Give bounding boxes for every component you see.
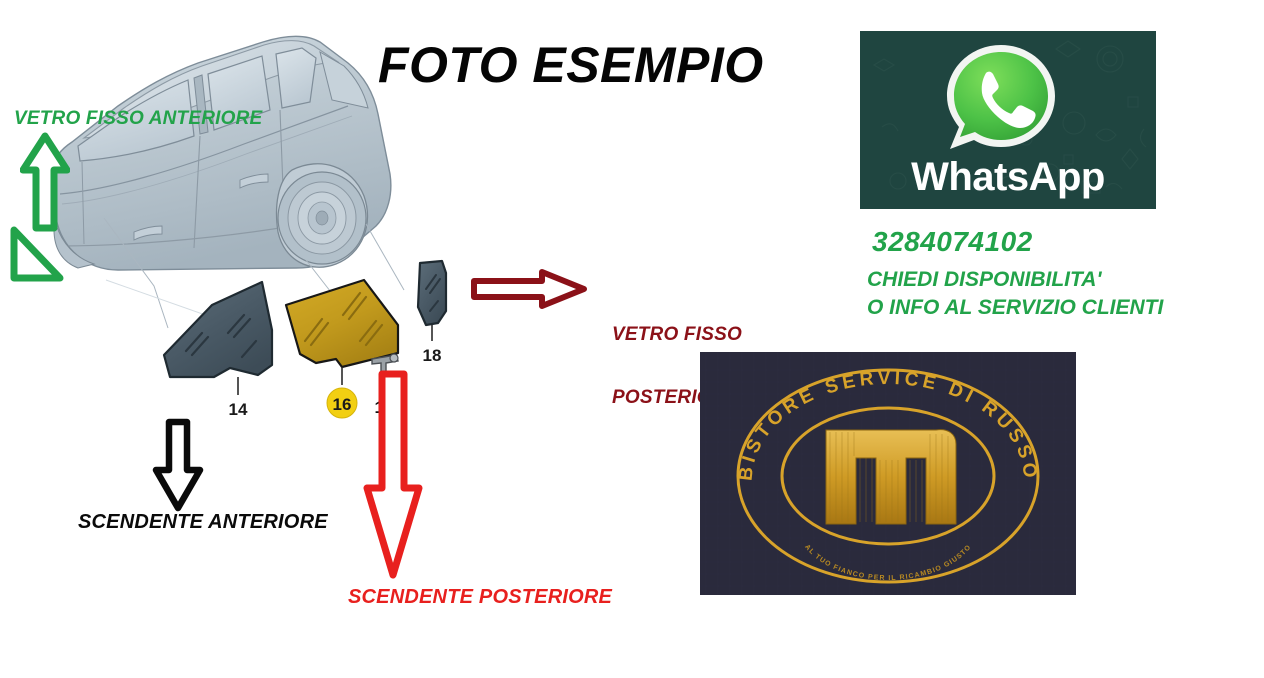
part-18-shape [418, 261, 446, 341]
emblem-tagline: AL TUO FIANCO PER IL RICAMBIO GIUSTO [803, 544, 973, 583]
company-emblem: MRICAMBISTORE SERVICE DI RUSSO MARCO AL … [700, 352, 1076, 595]
label-scendente-anteriore: SCENDENTE ANTERIORE [78, 511, 328, 533]
emblem-arc-text: MRICAMBISTORE SERVICE DI RUSSO MARCO [700, 352, 1041, 483]
red-down-arrow-icon [362, 370, 424, 580]
exploded-parts-diagram: 14 16 17 18 [150, 255, 480, 435]
part-number-16: 16 [333, 395, 352, 414]
contact-availability-line: CHIEDI DISPONIBILITA' [867, 268, 1101, 292]
poster-canvas: 14 16 17 18 [0, 0, 1264, 678]
whatsapp-banner[interactable]: WhatsApp [860, 31, 1156, 209]
green-up-arrow-icon [20, 132, 70, 232]
label-vetro-fisso-posteriore-line1: VETRO FISSO [612, 324, 742, 345]
whatsapp-wordmark: WhatsApp [860, 155, 1156, 200]
company-logo-plate: MRICAMBISTORE SERVICE DI RUSSO MARCO AL … [700, 352, 1076, 595]
emblem-monogram [826, 430, 956, 524]
contact-service-line: O INFO AL SERVIZIO CLIENTI [867, 296, 1163, 320]
green-triangle-icon [8, 226, 64, 282]
label-vetro-fisso-anteriore: VETRO FISSO ANTERIORE [14, 108, 262, 129]
whatsapp-logo-icon [938, 39, 1064, 157]
part-number-14: 14 [229, 400, 248, 419]
dark-red-right-arrow-icon [470, 269, 588, 309]
contact-phone-number[interactable]: 3284074102 [872, 226, 1033, 258]
black-down-arrow-icon [152, 418, 204, 512]
page-title: FOTO ESEMPIO [378, 36, 764, 94]
part-14-shape [164, 282, 272, 395]
label-scendente-posteriore: SCENDENTE POSTERIORE [348, 586, 612, 608]
part-number-18: 18 [423, 346, 442, 365]
